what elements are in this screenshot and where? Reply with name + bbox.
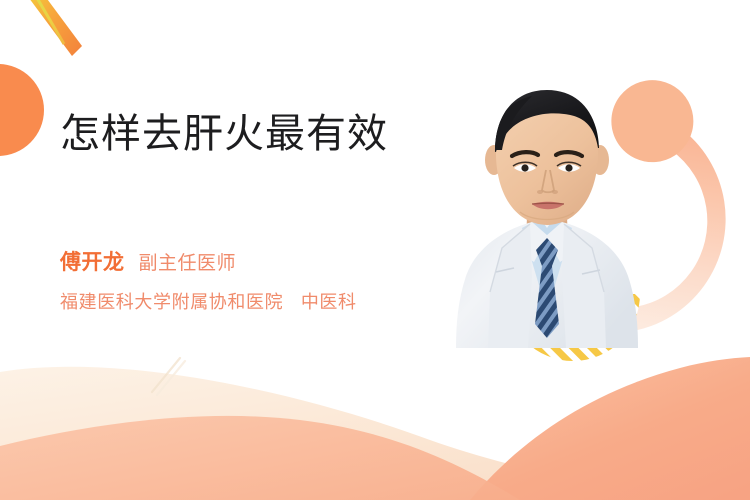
- cream-wave-shape: [0, 367, 750, 500]
- hospital-name: 福建医科大学附属协和医院: [60, 292, 283, 312]
- peach-wave-front: [0, 416, 520, 500]
- page-title: 怎样去肝火最有效: [60, 108, 440, 160]
- department-name: 中医科: [301, 292, 357, 312]
- doctor-affiliation-line: 福建医科大学附属协和医院 中医科: [60, 288, 357, 314]
- peach-wave-back: [470, 357, 750, 500]
- orange-circle-decoration: [0, 64, 44, 156]
- doctor-profile-poster: 怎样去肝火最有效 傅开龙 副主任医师 福建医科大学附属协和医院 中医科: [0, 0, 750, 500]
- title-block: 怎样去肝火最有效: [60, 108, 440, 160]
- doctor-portrait: [432, 62, 662, 362]
- thin-diagonal-line: [152, 358, 185, 395]
- corner-stroke-decoration: [26, 0, 82, 56]
- doctor-rank: 副主任医师: [139, 248, 237, 275]
- doctor-name: 傅开龙: [60, 246, 125, 276]
- doctor-identity-line: 傅开龙 副主任医师: [60, 246, 236, 276]
